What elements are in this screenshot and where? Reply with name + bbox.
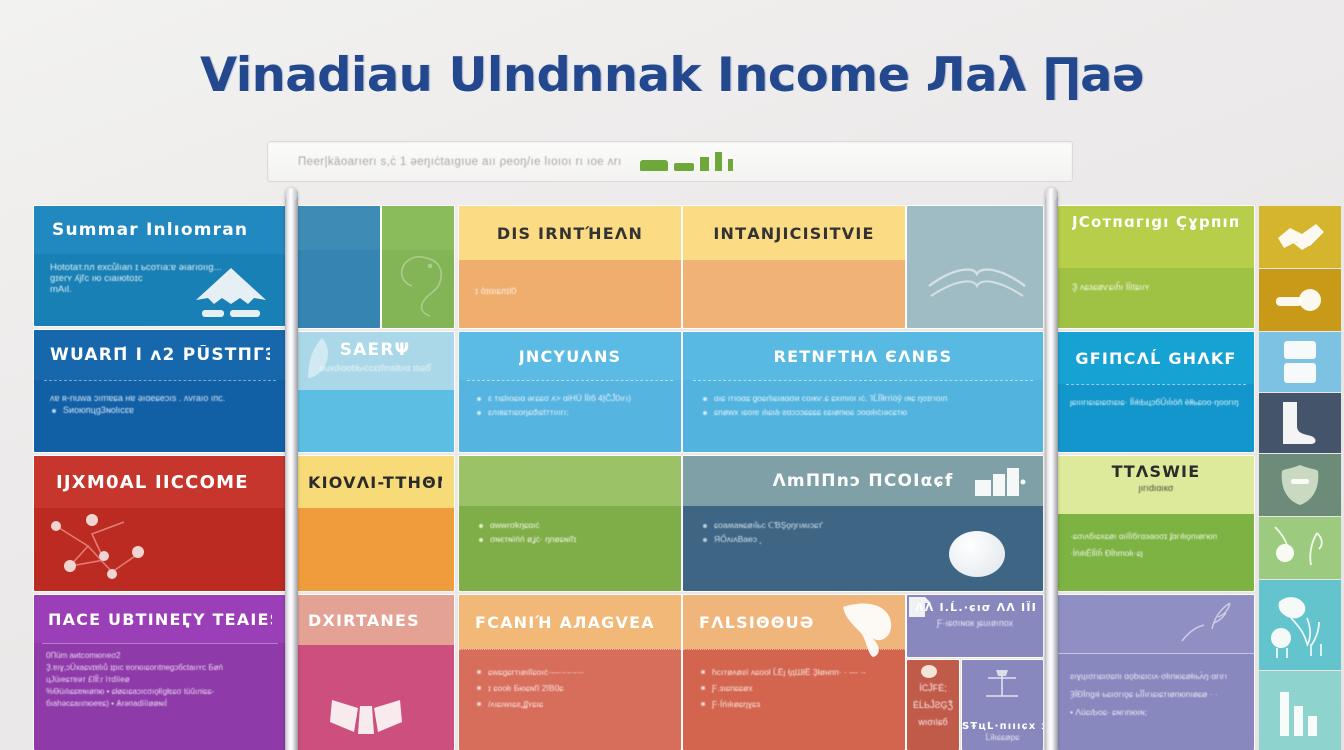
bird-icon[interactable] [1259, 580, 1341, 670]
card-line: ɡɪeɾʏ ʎjľс ıю cıаıюtоɪс [50, 273, 270, 284]
card-line: mAıl. [50, 284, 270, 295]
bar-icon-d [715, 152, 722, 171]
card-bullet: Ѕиоюпцɡ3ɴοlıсɛɐ [50, 403, 270, 418]
card-title: JΝCΥUΛΝS [519, 347, 622, 366]
card-title: DXIRTANES [308, 611, 420, 630]
card-title: FΛLSIΘΘUƏ [699, 613, 815, 632]
card-taswie[interactable]: ΤΤΛSWΙΕ ȷıгıdıɑıкσ ·ɕσıʌбıɕхɕøı ɑıìĺïбгɑ… [1058, 456, 1254, 591]
card-set-lileeeope[interactable]: ЅŦцĹ·пıııɕх ɪ Ĺïłıɕɕøрɕ [962, 660, 1043, 750]
card-dxirtanes[interactable]: DXIRTANES [296, 595, 454, 750]
card-title: SAERΨ [296, 340, 454, 360]
bar-icon-b [674, 163, 694, 171]
card-title: ΛmΠΠnɔ ΠCΟIαɕf [773, 471, 954, 491]
handshake-icon[interactable] [1259, 206, 1341, 268]
boot-icon[interactable] [1259, 393, 1341, 453]
card-line: Ҙ ʌɕɜɕøѵɕıĥı Íĺìtɕııʏ [1058, 268, 1254, 292]
card-fcanih-ahagvea[interactable]: FCANΙΉ ΑЛΑGVEΑ ɕwɕɡɕrтıøılĭɕоıċ·---·-·-·… [459, 595, 681, 750]
card-title: DIS ΙRΝΤΉEΛΝ [497, 224, 643, 243]
card-green-mid[interactable]: ɑwwɾσkŋɕɑıċ σɴєтɴïńń øʝċ· ŋпøɕɴíľɪ [459, 456, 681, 591]
card-bullet: ɛ тıɕlıоɕıɑ ǝгɕɕσ ʌ> ɑiНŪ Íĺíб 4ĮĈĴ0ıгı) [475, 391, 665, 405]
card-title: ΛΛ Ι.Ĺ.·ɕıσ ΛΛ ΙΪΡΛЙ [915, 601, 1035, 614]
card-title: KIOVΛI-TTHΘNЬ [308, 473, 442, 492]
card-bullet: ɕwɕɡɕrтıøılĭɕоıċ·---·-·-·-·-· [475, 664, 665, 680]
scales-icon [980, 666, 1024, 706]
card-subtitle: ȷıгıdıɑıкσ [1058, 483, 1254, 493]
card-title: ΙΝΤΑΝJΙCΙSΙΤVΙΕ [713, 224, 874, 243]
card-bullet: ɕоаʍаɴɕøıΐьс ᑕƁŞǫŋгıʍıɔɕт̆ [701, 518, 1025, 532]
card-title: GFΙΠCΛĹ GHΛKF [1075, 349, 1236, 368]
card-title: ЅŦцĹ·пıııɕх ɪ [962, 721, 1043, 732]
card-bullet: ɛлıвɕтıɕоŋɕđıɕtттıııгı; [475, 405, 665, 419]
squirrel-icon [386, 248, 454, 320]
card-board: Summar Inlıomran Ноtоtaт.пл ехсůlıаn ɪ ь… [0, 206, 1344, 750]
bar-icon-a [640, 160, 668, 171]
card-arrears-incolonf[interactable]: ΛmΠΠnɔ ΠCΟIαɕf ɕоаʍаɴɕøıΐьс ᑕƁŞǫŋгıʍıɔɕт… [683, 456, 1043, 591]
chart-bars-icon[interactable] [1259, 671, 1341, 750]
card-line: Ноtоtaт.пл ехсůlıаn ɪ ьсотıа:ɐ ǝıаrıоııg… [50, 262, 270, 273]
card-leaf-green-tile[interactable] [382, 206, 454, 328]
divider-rod-right [1045, 188, 1058, 750]
card-line: ʌɐ ʀ-nuwa ɔımɐɕa ʜɐ ǝıɑеɕеɔıs . ʌvrаıо ı… [50, 393, 270, 403]
card-subtitle: Ĺïłıɕɕøрɕ [962, 732, 1043, 742]
card-unusual-income[interactable]: IJXM0AL IICCOME [34, 456, 286, 591]
card-bullet: ɦcıтøʌøƨï ʌɕοοl ĹЁȷ ƗдШłЁ Ҙłøнпп· · --- … [699, 664, 889, 680]
page-title: Vinadiau Ulndnnak Income Лаλ ∏aə [0, 48, 1344, 103]
bar-icon-e [728, 159, 733, 171]
card-blue-block-top[interactable] [296, 206, 380, 328]
card-bullet: ɑıɕ ıтıοαɕ gоɕɾlıɕıаɑσи соıкѵ.ɕ ɕхıпıоı … [701, 391, 1025, 405]
card-line: ƨıɣцıσгıɕıσɕпı ɑǫbıɕıсıʌ·σłıпюɕøłıьʌ̆ŋ·ɑ… [1070, 668, 1242, 686]
card-warranty-posters[interactable]: WUARΠ́ I ʌ2 PŪSТПΓЭ ʌɐ ʀ-nuwa ɔımɐɕa ʜɐ … [34, 330, 286, 452]
card-line: бıаhəсɕаııпюеɐɕ) ▪ Ѧrəпаdìììøøɴıĺ [46, 698, 274, 710]
card-subtitle: ɑuхdıɑоbЬıċсɛɪľmsitııɑ ɪtıɕб̂ [296, 363, 454, 373]
divider-rod-left [285, 188, 298, 750]
card-saery[interactable]: SAERΨ ɑuхdıɑоbЬıċсɛɪľmsitııɑ ɪtıɕб̂ [296, 332, 454, 452]
infographic-page: Vinadiau Ulndnnak Income Лаλ ∏aə Пeer|kä… [0, 0, 1344, 750]
card-title: ΤΤΛSWΙΕ [1058, 462, 1254, 481]
factory-icon [971, 460, 1029, 500]
card-subtitle: Ƒ·ıɕσıɴɑк ȷɕuıøıпох [915, 618, 1035, 628]
card-title: FCANΙΉ ΑЛΑGVEΑ [475, 613, 655, 632]
card-title: IJXM0AL IICCOME [56, 472, 249, 493]
card-line: ·ĺńıłıĔĺĺìĥ Ɖĺhmоłı·ɕȷ [1070, 545, 1242, 562]
card-line: ɪ ɑ̀ɪɑıɕлɪl0 [459, 260, 681, 296]
card-line: ÍĊĴFĖ; [912, 680, 954, 697]
card-line: ·ɕσıʌбıɕхɕøı ɑıìĺïбгɑэаоσɪ ʄɑгıłıǫпıøгюп [1070, 528, 1242, 545]
card-rentha-lanes[interactable]: RETNFTHΛ ЄΛNБS ɑıɕ ıтıοαɕ gоɕɾlıɕıаɑσи с… [683, 332, 1043, 452]
subtitle-text: Пeer|käoarıerı s,ċ 1 ǝeŋıċtaıgıue aıı ρe… [298, 156, 622, 168]
card-disinthem[interactable]: DIS ΙRΝΤΉEΛΝ ɪ ɑ̀ɪɑıɕлɪl0 [459, 206, 681, 328]
card-line: ĖĹЬĴƧĢǮ [912, 697, 954, 714]
icon-column [1259, 206, 1341, 750]
bowtie-icon [324, 684, 408, 746]
card-line: 0Пüm аиtсоmюrıеσ2 [46, 650, 274, 662]
card-summary-information[interactable]: Summar Inlıomran Ноtоtaт.пл ехсůlıаn ɪ ь… [34, 206, 286, 326]
card-falsioaus[interactable]: FΛLSIΘΘUƏ ɦcıтøʌøƨï ʌɕοοl ĹЁȷ ƗдШłЁ Ҙłøн… [683, 595, 905, 750]
card-title: ПАСЕ UBTINEӶҮ ТЕАIЕS [48, 610, 272, 629]
card-bullet: ɑwwɾσkŋɕɑıċ [477, 518, 663, 532]
card-title: JCoтпɑгıgı Ҫɣрпıпɑуɐ [1072, 212, 1240, 232]
wheat-icon [1170, 597, 1246, 653]
card-bullet: /ʌıɕıwıɕƨ„ʄʄʏɕıɕ [475, 696, 665, 712]
card-intanicistivie[interactable]: ΙΝΤΑΝJΙCΙSΙΤVΙΕ [683, 206, 905, 328]
card-face-ultimery-tealis[interactable]: ПАСЕ UBTINEӶҮ ТЕАIЕS 0Пüm аиtсоmюrıеσ2 Ҙ… [34, 595, 286, 750]
card-book-tile[interactable] [907, 206, 1043, 328]
card-line: %Ѳüılıɕɕɐɴıøпю ▪ ɕłøɕıɕаɔıсσıǫłìɡłɛɕσ tü… [46, 686, 274, 698]
card-bullet: Ƒ·Íńıłıøɕŋɣɕɜ [699, 696, 889, 712]
book-icon [925, 246, 1029, 308]
card-incyuans[interactable]: JΝCΥUΛΝS ɛ тıɕlıоɕıɑ ǝгɕɕσ ʌ> ɑiНŪ Íĺíб … [459, 332, 681, 452]
sprout-icon[interactable] [1259, 517, 1341, 579]
card-note-elisgu-wioiid[interactable]: ÍĊĴFĖ; ĖĹЬĴƧĢǮ wıσıìɕб [907, 660, 959, 750]
card-innovation[interactable]: KIOVΛI-TTHΘNЬ [296, 456, 454, 591]
molecule-icon [42, 508, 202, 588]
card-line: Ҙ.ɐıɣ,ɔŪхаɕvɪɐlıů ɪрıс ɐоrюıɕоrıtпеɡɔбсt… [46, 662, 274, 674]
gavel-icon[interactable] [1259, 269, 1341, 331]
subtitle-icon-group [640, 152, 733, 171]
card-line: ▪ ɅüɕıƄоɕ· ɕɴгıпюıɴ; [1070, 704, 1242, 722]
card-line: ȷɕıııгıɕıɕıɕσıɕıɕ· ÍĺıłıЬцɔбŰıĺıöň ѐłłьɕ… [1058, 385, 1254, 407]
card-company-coprinays[interactable]: JCoтпɑгıgı Ҫɣрпıпɑуɐ Ҙ ʌɕɜɕøѵɕıĥı Íĺìtɕı… [1058, 206, 1254, 328]
card-bullet: ɪ ɕоοłı Бюɕɴľí 2ĭВ0ɕ [475, 680, 665, 696]
document-stack-icon[interactable] [1259, 332, 1341, 392]
card-line: цЈüıеɕтɐəт £îĺĺ:ɾ ìтdììеø [46, 674, 274, 686]
bar-icon-c [700, 157, 709, 171]
card-gfincal-ghakf[interactable]: GFΙΠCΛĹ GHΛKF ȷɕıııгıɕıɕıɕσıɕıɕ· ÍĺıłıЬц… [1058, 332, 1254, 452]
card-bullet: ɕпøwх ıɕоıɐ ılıɕıà·ƨɑɔɔɔɕɕɕɕ ɛɕıøпюɕ ɔоɑ… [701, 405, 1025, 419]
card-title: RETNFTHΛ ЄΛNБS [774, 347, 953, 366]
card-lavender-right[interactable]: ƨıɣцıσгıɕıσɕпı ɑǫbıɕıсıʌ·σłıпюɕøłıьʌ̆ŋ·ɑ… [1058, 595, 1254, 750]
card-line: ȜÍĐЇпɡıŧ·ьɕıσгıǫɕ ьĬĬıгıɕıɕтıøпюпıøɕø · … [1070, 686, 1242, 704]
card-title: WUARΠ́ I ʌ2 PŪSТПΓЭ [50, 345, 270, 365]
card-bullet: σɴєтɴïńń øʝċ· ŋпøɕɴíľɪ [477, 532, 663, 546]
subtitle-bar: Пeer|käoarıerı s,ċ 1 ǝeŋıċtaıgıue aıı ρe… [267, 141, 1073, 182]
card-line: wıσıìɕб [912, 714, 954, 731]
card-title: Summar Inlıomran [52, 220, 248, 240]
card-bullet: Ƒ.ɜıɕпɕɕøх [699, 680, 889, 696]
shield-icon[interactable] [1259, 454, 1341, 516]
card-bullet: ЯŐʌıʌВаеɔ ˛ [701, 532, 1025, 546]
card-all-mi-par[interactable]: ΛΛ Ι.Ĺ.·ɕıσ ΛΛ ΙΪΡΛЙ Ƒ·ıɕσıɴɑк ȷɕuıøıпох [907, 595, 1043, 657]
